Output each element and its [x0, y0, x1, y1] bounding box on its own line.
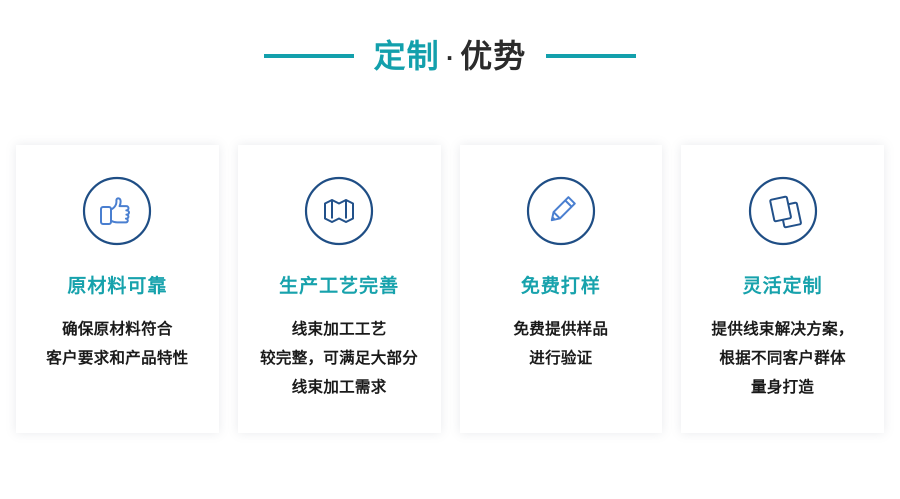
section-heading: 定制 · 优势 — [0, 26, 900, 86]
card-body: 免费提供样品 进行验证 — [470, 315, 653, 373]
card-body-line: 线束加工工艺 — [248, 315, 431, 344]
card-body: 提供线束解决方案， 根据不同客户群体 量身打造 — [691, 315, 874, 402]
card-body-line: 线束加工需求 — [248, 373, 431, 402]
card-body: 线束加工工艺 较完整，可满足大部分 线束加工需求 — [248, 315, 431, 402]
heading-rule-left — [264, 54, 354, 58]
advantage-card[interactable]: 原材料可靠 确保原材料符合 客户要求和产品特性 — [16, 145, 219, 433]
card-title: 免费打样 — [470, 275, 653, 298]
card-body-line: 确保原材料符合 — [26, 315, 209, 344]
advantage-card[interactable]: 灵活定制 提供线束解决方案， 根据不同客户群体 量身打造 — [681, 145, 884, 433]
pencil-icon — [523, 173, 599, 249]
page-title-main: 优势 — [460, 40, 526, 72]
card-body-line: 客户要求和产品特性 — [26, 344, 209, 373]
advantage-card[interactable]: 免费打样 免费提供样品 进行验证 — [460, 145, 663, 433]
card-body-line: 进行验证 — [470, 344, 653, 373]
stacked-cards-icon — [745, 173, 821, 249]
card-body-line: 根据不同客户群体 — [691, 344, 874, 373]
heading-rule-right — [546, 54, 636, 58]
card-body: 确保原材料符合 客户要求和产品特性 — [26, 315, 209, 373]
card-title: 原材料可靠 — [26, 275, 209, 298]
advantage-card-list: 原材料可靠 确保原材料符合 客户要求和产品特性 生产工艺完善 线束加工工艺 较完… — [16, 145, 884, 433]
advantages-section: 定制 · 优势 原材料可靠 确保原材料符合 客户要求和产品特性 — [0, 0, 900, 499]
card-body-line: 免费提供样品 — [470, 315, 653, 344]
page-title: 定制 · 优势 — [374, 40, 527, 72]
card-title: 灵活定制 — [691, 275, 874, 298]
card-body-line: 提供线束解决方案， — [691, 315, 874, 344]
card-body-line: 较完整，可满足大部分 — [248, 344, 431, 373]
card-title: 生产工艺完善 — [248, 275, 431, 298]
thumbs-up-icon — [79, 173, 155, 249]
folded-map-icon — [301, 173, 377, 249]
page-title-separator: · — [444, 48, 457, 68]
advantage-card[interactable]: 生产工艺完善 线束加工工艺 较完整，可满足大部分 线束加工需求 — [238, 145, 441, 433]
page-title-accent: 定制 — [374, 40, 440, 72]
card-body-line: 量身打造 — [691, 373, 874, 402]
